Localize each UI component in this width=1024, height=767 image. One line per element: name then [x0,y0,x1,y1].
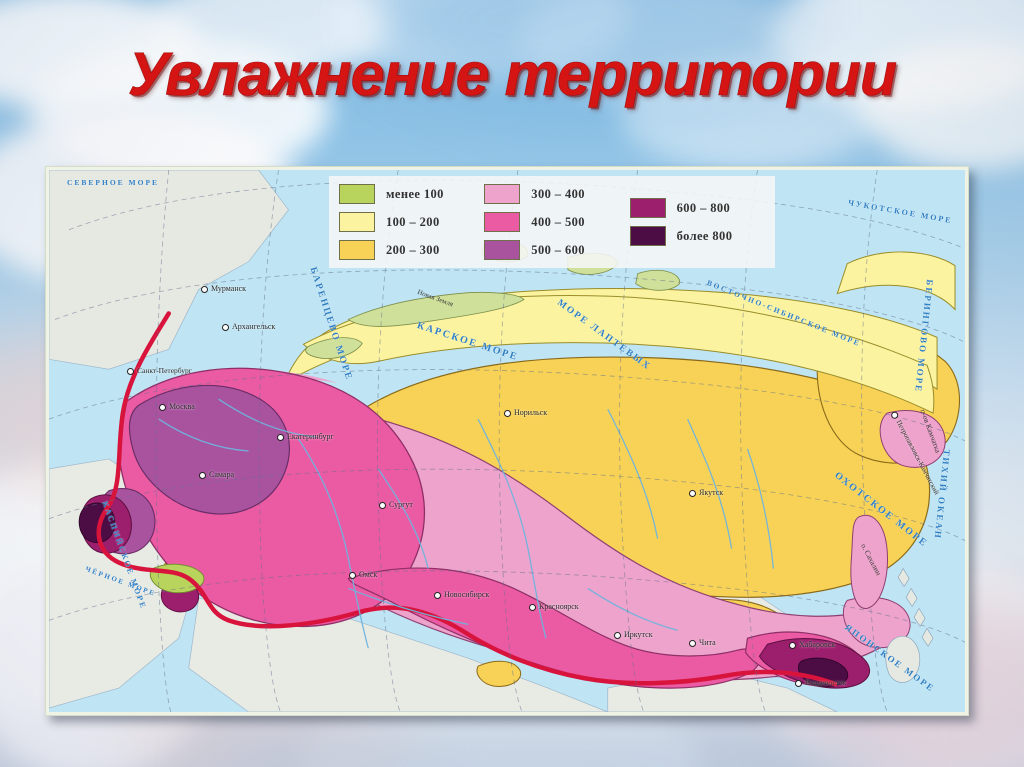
legend-swatch [630,198,666,218]
legend-item[interactable]: более 800 [630,226,771,247]
legend-column-1: менее 100 100 – 200 200 – 300 [339,184,484,261]
legend-label: 300 – 400 [531,187,585,202]
legend-item[interactable]: 600 – 800 [630,198,771,219]
legend-item[interactable]: 500 – 600 [484,240,629,261]
legend-column-3: 600 – 800 более 800 [630,198,771,247]
legend-swatch [339,240,375,260]
legend-swatch [339,184,375,204]
legend-column-2: 300 – 400 400 – 500 500 – 600 [484,184,629,261]
legend-swatch [484,184,520,204]
map-frame: СЕВЕРНОЕ МОРЕ БАРЕНЦЕВО МОРЕ КАРСКОЕ МОР… [45,166,969,716]
legend-swatch [630,226,666,246]
precipitation-map[interactable]: СЕВЕРНОЕ МОРЕ БАРЕНЦЕВО МОРЕ КАРСКОЕ МОР… [49,170,965,712]
map-legend: менее 100 100 – 200 200 – 300 300 – 400 … [329,176,775,268]
legend-label: 500 – 600 [531,243,585,258]
legend-item[interactable]: 200 – 300 [339,240,484,261]
legend-label: 100 – 200 [386,215,440,230]
legend-item[interactable]: 100 – 200 [339,212,484,233]
legend-label: 200 – 300 [386,243,440,258]
legend-item[interactable]: 300 – 400 [484,184,629,205]
legend-swatch [339,212,375,232]
page-title: Увлажнение территории [0,44,1024,105]
legend-label: 600 – 800 [677,201,731,216]
legend-swatch [484,212,520,232]
legend-item[interactable]: менее 100 [339,184,484,205]
legend-label: более 800 [677,229,733,244]
legend-label: менее 100 [386,187,444,202]
legend-item[interactable]: 400 – 500 [484,212,629,233]
legend-label: 400 – 500 [531,215,585,230]
legend-swatch [484,240,520,260]
